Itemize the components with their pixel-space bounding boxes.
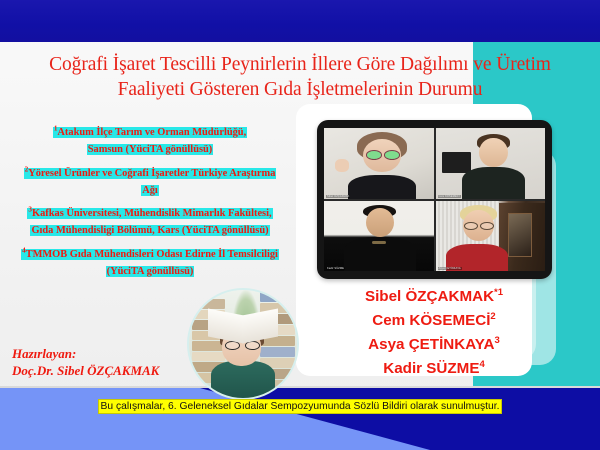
author-item: Asya ÇETİNKAYA3 (310, 331, 558, 355)
video-tile-bottom-right[interactable]: Asya ÇETİNKAYA (436, 201, 546, 272)
author-item: Cem KÖSEMECİ2 (310, 307, 558, 331)
affiliation-text-line-2: (YüciTA gönüllüsü) (106, 266, 195, 277)
affiliation-text-line-1: Kafkas Üniversitesi, Mühendislik Mimarlı… (32, 208, 272, 219)
participant-nametag: Kadir SÜZME (326, 267, 345, 270)
video-call-grid: Sibel ÖZÇAKMAK Cem KÖSEMECİ Kadir SÜZME (324, 128, 545, 271)
affiliation-text-line-1: Yöresel Ürünler ve Coğrafi İşaretler Tür… (28, 168, 275, 179)
video-tile-bottom-left[interactable]: Kadir SÜZME (324, 201, 434, 272)
footer-note-text: Bu çalışmalar, 6. Geleneksel Gıdalar Sem… (98, 399, 503, 414)
tablet-device: Sibel ÖZÇAKMAK Cem KÖSEMECİ Kadir SÜZME (317, 120, 552, 279)
top-blue-band (0, 0, 600, 42)
affiliations-list: 1Atakum İlçe Tarım ve Orman Müdürlüğü, S… (4, 122, 296, 284)
slide-title-line-1: Coğrafi İşaret Tescilli Peynirlerin İlle… (14, 52, 586, 77)
child-photo-scene (189, 290, 297, 398)
author-marker: 2 (490, 311, 495, 322)
prepared-by-label: Hazırlayan: (12, 345, 159, 362)
affiliation-text-line-1: TMMOB Gıda Mühendisleri Odası Edirne İl … (26, 249, 278, 260)
author-name: Sibel ÖZÇAKMAK (365, 288, 494, 305)
author-name: Cem KÖSEMECİ (372, 312, 490, 329)
affiliation-text-line-2: Gıda Mühendisligi Bölümü, Kars (YüciTA g… (30, 225, 269, 236)
author-marker: 4 (479, 359, 484, 370)
video-tile-top-left[interactable]: Sibel ÖZÇAKMAK (324, 128, 434, 199)
author-item: Sibel ÖZÇAKMAK*1 (310, 283, 558, 307)
author-item: Kadir SÜZME4 (310, 355, 558, 379)
affiliation-text-line-2: Ağı (141, 185, 159, 196)
slide-title: Coğrafi İşaret Tescilli Peynirlerin İlle… (14, 52, 586, 102)
author-marker: 3 (495, 335, 500, 346)
affiliation-item: 1Atakum İlçe Tarım ve Orman Müdürlüğü, S… (4, 122, 296, 157)
slide-title-line-2: Faaliyeti Gösteren Gıda İşletmelerinin D… (14, 77, 586, 102)
prepared-by-block: Hazırlayan: Doç.Dr. Sibel ÖZÇAKMAK (12, 345, 159, 379)
authors-list: Sibel ÖZÇAKMAK*1 Cem KÖSEMECİ2 Asya ÇETİ… (310, 283, 558, 379)
affiliation-item: 4TMMOB Gıda Mühendisleri Odası Edirne İl… (4, 243, 296, 278)
affiliation-item: 3Kafkas Üniversitesi, Mühendislik Mimarl… (4, 203, 296, 238)
affiliation-text-line-2: Samsun (YüciTA gönüllüsü) (87, 144, 214, 155)
author-name: Kadir SÜZME (383, 360, 479, 377)
participant-nametag: Sibel ÖZÇAKMAK (326, 195, 350, 198)
participant-nametag: Cem KÖSEMECİ (438, 195, 461, 198)
video-tile-top-right[interactable]: Cem KÖSEMECİ (436, 128, 546, 199)
prepared-by-name: Doç.Dr. Sibel ÖZÇAKMAK (12, 362, 159, 379)
footer-note: Bu çalışmalar, 6. Geleneksel Gıdalar Sem… (0, 396, 600, 414)
presentation-slide: Coğrafi İşaret Tescilli Peynirlerin İlle… (0, 0, 600, 450)
affiliation-text-line-1: Atakum İlçe Tarım ve Orman Müdürlüğü, (57, 127, 246, 138)
author-name: Asya ÇETİNKAYA (368, 336, 494, 353)
child-reading-photo (189, 290, 297, 398)
affiliation-item: 2Yöresel Ürünler ve Coğrafi İşaretler Tü… (4, 162, 296, 197)
open-book-on-head (208, 312, 277, 340)
participant-nametag: Asya ÇETİNKAYA (438, 267, 462, 270)
author-marker: *1 (494, 287, 503, 298)
